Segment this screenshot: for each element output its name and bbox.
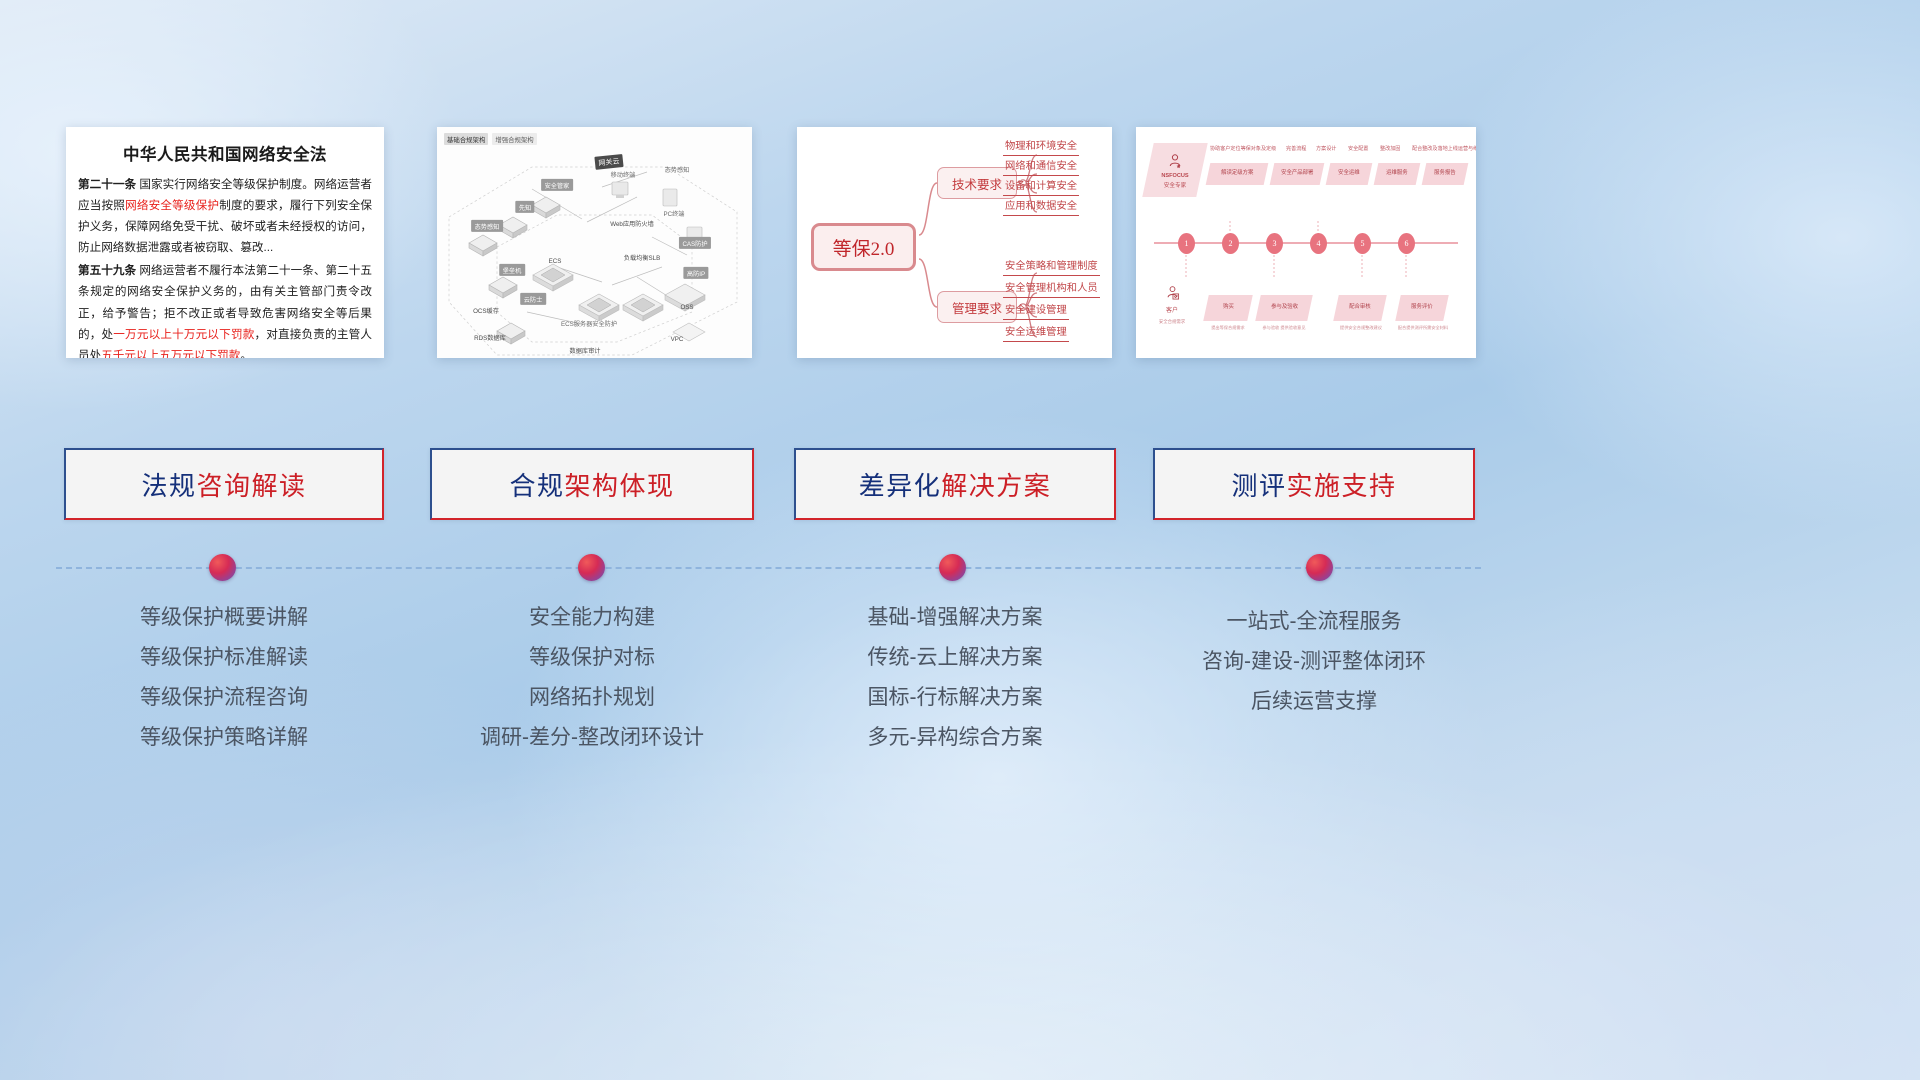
nsfocus-step-2: 2 — [1222, 233, 1239, 254]
arch-node-security-butler: 安全管家 — [541, 179, 573, 191]
pillar-title-box-4[interactable]: 测评实施支持 — [1153, 448, 1475, 520]
pillar-title-2-red: 架构体现 — [565, 471, 675, 501]
pillar-items-4: 一站式-全流程服务 咨询-建设-测评整体闭环 后续运营支撑 — [1153, 611, 1475, 731]
arch-node-cas-protection: CAS防护 — [679, 237, 711, 249]
slide-canvas: 中华人民共和国网络安全法 第二十一条 国家实行网络安全等级保护制度。网络运营者应… — [0, 0, 1920, 1080]
arch-node-bastion-host: 堡垒机 — [499, 264, 525, 276]
pillar-title-box-2[interactable]: 合规架构体现 — [430, 448, 754, 520]
mindmap-leaf-security-org-personnel: 安全管理机构和人员 — [1003, 283, 1100, 298]
nsfocus-stage-5: 服务报告 — [1422, 163, 1469, 185]
nsfocus-stage-4-label: 运维服务 — [1386, 170, 1408, 177]
nsfocus-brand-label: NSFOCUS — [1150, 173, 1200, 181]
customer-label: 客户 — [1150, 307, 1194, 315]
chip-1-sub: 提出等保合规需求 — [1202, 325, 1254, 331]
nsfocus-header-2: 完善流程 — [1286, 145, 1306, 152]
nsfocus-header-5: 整改加固 — [1380, 145, 1400, 152]
nsfocus-stage-2-label: 安全产品部署 — [1281, 170, 1313, 177]
arch-node-xianzhi: 先知 — [515, 201, 534, 213]
timeline-dashed-line — [56, 567, 1481, 569]
arch-node-ocs-cache: OCS缓存 — [470, 304, 503, 316]
image-card-row: 中华人民共和国网络安全法 第二十一条 国家实行网络安全等级保护制度。网络运营者应… — [0, 127, 1920, 362]
timeline-dot-4 — [1306, 554, 1333, 581]
arch-node-situational-awareness: 态势感知 — [471, 220, 503, 232]
pillar-title-2-blue: 合规 — [509, 471, 564, 501]
arch-node-pc-terminal: PC终端 — [660, 207, 688, 219]
law-article-21: 第二十一条 国家实行网络安全等级保护制度。网络运营者应当按照网络安全等级保护制度… — [78, 174, 372, 258]
nsfocus-stage-1-label: 解读定级方案 — [1221, 170, 1253, 177]
list-item: 等级保护流程咨询 — [64, 687, 384, 708]
nsfocus-header-4: 安全配置 — [1348, 145, 1368, 152]
nsfocus-step-3: 3 — [1266, 233, 1283, 254]
timeline-dot-2 — [578, 554, 605, 581]
list-item: 网络拓扑规划 — [430, 687, 754, 708]
nsfocus-bottom-chip-2: 参与及验收 — [1255, 295, 1313, 321]
person-star-icon — [1167, 153, 1183, 169]
pillar-title-1: 法规咨询解读 — [141, 466, 306, 503]
nsfocus-role-label: 安全专家 — [1150, 183, 1200, 191]
nsfocus-bottom-chip-1: 购买 — [1203, 295, 1253, 321]
article-59-highlight-2: 五千元以上五万元以下罚款 — [101, 349, 240, 358]
nsfocus-bottom-chip-3: 配合审核 — [1333, 295, 1387, 321]
nsfocus-step-5: 5 — [1354, 233, 1371, 254]
chip-2-title: 参与及验收 — [1271, 304, 1298, 311]
mindmap-leaf-security-policy: 安全策略和管理制度 — [1003, 261, 1100, 276]
arch-node-cloud-shield: 云防士 — [520, 293, 546, 305]
pillar-items-3: 基础-增强解决方案 传统-云上解决方案 国标-行标解决方案 多元-异构综合方案 — [794, 607, 1116, 767]
pillar-title-box-1[interactable]: 法规咨询解读 — [64, 448, 384, 520]
chip-3-sub: 提供安全合规整改建议 — [1332, 325, 1390, 331]
pillar-title-box-3[interactable]: 差异化解决方案 — [794, 448, 1116, 520]
arch-node-waf: Web应用防火墙 — [607, 217, 658, 229]
mindmap-root-node: 等保2.0 — [811, 223, 916, 271]
mindmap-leaf-device-computing: 设备和计算安全 — [1003, 181, 1079, 196]
pillar-title-4-red: 实施支持 — [1287, 471, 1397, 501]
architecture-diagram: 基础合规架构 增强合规架构 — [437, 127, 752, 358]
list-item: 国标-行标解决方案 — [794, 687, 1116, 708]
article-21-label: 第二十一条 — [78, 178, 136, 191]
nsfocus-header-6: 配合整改及落地上线运营与维护 — [1412, 145, 1476, 152]
pillar-title-1-blue: 法规 — [141, 471, 196, 501]
nsfocus-stage-4: 运维服务 — [1374, 163, 1421, 185]
pillar-title-3-red: 解决方案 — [941, 471, 1051, 501]
list-item: 咨询-建设-测评整体闭环 — [1153, 651, 1475, 672]
chip-2-sub: 参与验收 提供验收意见 — [1254, 325, 1314, 331]
nsfocus-process-diagram: NSFOCUS 安全专家 协助客户定位等保对象及定级 完善流程 方案设计 安全配… — [1136, 127, 1476, 358]
chip-1-title: 购买 — [1223, 304, 1234, 311]
chip-3-title: 配合审核 — [1349, 304, 1371, 311]
list-item: 基础-增强解决方案 — [794, 607, 1116, 628]
person-check-icon — [1165, 285, 1180, 300]
list-item: 等级保护对标 — [430, 647, 754, 668]
mindmap-leaf-network-communication: 网络和通信安全 — [1003, 161, 1079, 176]
pillar-items-2: 安全能力构建 等级保护对标 网络拓扑规划 调研-差分-整改闭环设计 — [430, 607, 754, 767]
pillar-title-4: 测评实施支持 — [1231, 466, 1396, 503]
article-59-end: 。 — [240, 349, 252, 358]
card-mindmap-dengbao: 等保2.0 技术要求 管理要求 物理和环境安全 网络和通信安全 设备和计算安全 … — [797, 127, 1112, 358]
mindmap-leaf-application-data: 应用和数据安全 — [1003, 201, 1079, 216]
arch-node-mobile-terminal: 移动终端 — [607, 168, 639, 180]
law-title: 中华人民共和国网络安全法 — [78, 141, 372, 165]
list-item: 调研-差分-整改闭环设计 — [430, 727, 754, 748]
list-item: 等级保护标准解读 — [64, 647, 384, 668]
arch-node-ecs-server-protection: ECS服务器安全防护 — [557, 317, 620, 329]
pillar-title-2: 合规架构体现 — [509, 466, 674, 503]
list-item: 安全能力构建 — [430, 607, 754, 628]
pillar-title-3: 差异化解决方案 — [859, 466, 1052, 503]
arch-node-vpc: VPC — [667, 334, 687, 344]
arch-node-anti-ddos-ip: 高防IP — [683, 267, 708, 279]
arch-node-oss: OSS — [677, 302, 697, 312]
nsfocus-stage-3-label: 安全运维 — [1338, 170, 1360, 177]
list-item: 多元-异构综合方案 — [794, 727, 1116, 748]
law-article-59: 第五十九条 网络运营者不履行本法第二十一条、第二十五条规定的网络安全保护义务的，… — [78, 260, 372, 358]
nsfocus-header-1: 协助客户定位等保对象及定级 — [1210, 145, 1276, 152]
arch-node-ecs: ECS — [545, 256, 565, 266]
pillar-title-4-blue: 测评 — [1231, 471, 1286, 501]
chip-4-title: 服务评价 — [1411, 304, 1433, 311]
pillar-title-1-red: 咨询解读 — [197, 471, 307, 501]
customer-sublabel: 安全合规需求 — [1144, 319, 1200, 325]
pillar-title-3-blue: 差异化 — [859, 471, 942, 501]
list-item: 等级保护策略详解 — [64, 727, 384, 748]
pillar-items-1: 等级保护概要讲解 等级保护标准解读 等级保护流程咨询 等级保护策略详解 — [64, 607, 384, 767]
list-item: 等级保护概要讲解 — [64, 607, 384, 628]
card-compliance-architecture: 基础合规架构 增强合规架构 — [437, 127, 752, 358]
timeline-dot-1 — [209, 554, 236, 581]
nsfocus-stage-3: 安全运维 — [1326, 163, 1373, 185]
card-nsfocus-process: NSFOCUS 安全专家 协助客户定位等保对象及定级 完善流程 方案设计 安全配… — [1136, 127, 1476, 358]
arch-node-situational-awareness-2: 态势感知 — [661, 163, 693, 175]
nsfocus-step-4: 4 — [1310, 233, 1327, 254]
nsfocus-step-6: 6 — [1398, 233, 1415, 254]
article-59-highlight-1: 一万元以上十万元以下罚款 — [113, 328, 254, 341]
chip-4-sub: 配合提供测评所需安全材料 — [1394, 325, 1452, 331]
list-item: 传统-云上解决方案 — [794, 647, 1116, 668]
arch-node-slb: 负载均衡SLB — [620, 251, 663, 263]
mindmap-leaf-physical-environment: 物理和环境安全 — [1003, 141, 1079, 156]
nsfocus-step-1: 1 — [1178, 233, 1195, 254]
mindmap-leaf-security-operations: 安全运维管理 — [1003, 327, 1069, 342]
law-document: 中华人民共和国网络安全法 第二十一条 国家实行网络安全等级保护制度。网络运营者应… — [66, 127, 384, 358]
arch-node-rds-database: RDS数据库 — [471, 331, 510, 343]
article-21-highlight: 网络安全等级保护 — [125, 199, 219, 212]
nsfocus-bottom-chip-4: 服务评价 — [1395, 295, 1449, 321]
nsfocus-header-3: 方案设计 — [1316, 145, 1336, 152]
timeline-dot-3 — [939, 554, 966, 581]
mindmap-diagram: 等保2.0 技术要求 管理要求 物理和环境安全 网络和通信安全 设备和计算安全 … — [797, 127, 1112, 358]
list-item: 一站式-全流程服务 — [1153, 611, 1475, 632]
list-item: 后续运营支撑 — [1153, 691, 1475, 712]
card-cybersecurity-law: 中华人民共和国网络安全法 第二十一条 国家实行网络安全等级保护制度。网络运营者应… — [66, 127, 384, 358]
nsfocus-stage-5-label: 服务报告 — [1434, 170, 1456, 177]
nsfocus-stage-2: 安全产品部署 — [1270, 163, 1325, 185]
article-59-label: 第五十九条 — [78, 264, 136, 277]
nsfocus-stage-1: 解读定级方案 — [1206, 163, 1269, 185]
arch-node-database-audit: 数据库审计 — [566, 344, 604, 356]
mindmap-leaf-security-construction: 安全建设管理 — [1003, 305, 1069, 320]
